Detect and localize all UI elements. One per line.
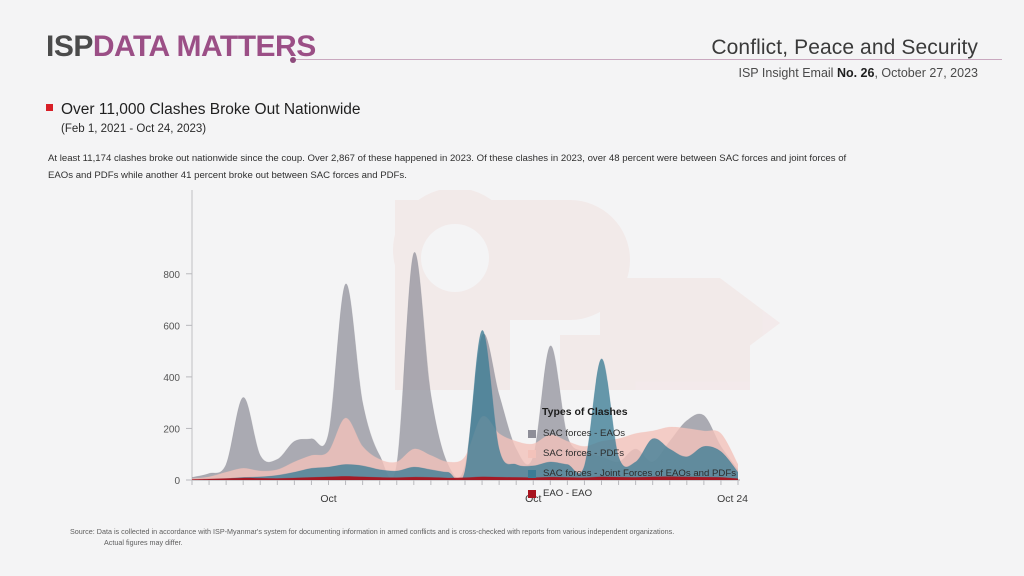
legend-title: Types of Clashes bbox=[542, 406, 736, 418]
header-issue-number: No. 26 bbox=[837, 66, 875, 80]
x-axis-tick-label: 2023 bbox=[725, 509, 749, 510]
source-line-1: Source: Data is collected in accordance … bbox=[70, 527, 674, 536]
summary-paragraph: At least 11,174 clashes broke out nation… bbox=[48, 150, 848, 184]
legend-item[interactable]: EAO - EAO bbox=[528, 488, 736, 499]
page-title: Over 11,000 Clashes Broke Out Nationwide bbox=[46, 101, 361, 119]
legend-item-label: SAC forces - EAOs bbox=[543, 428, 625, 439]
brand-isp-text: ISP bbox=[46, 30, 93, 63]
red-square-bullet-icon bbox=[46, 104, 53, 111]
header-subtitle-post: , October 27, 2023 bbox=[874, 66, 978, 80]
brand-dot-icon bbox=[290, 57, 296, 63]
chart-container: 0200400600800 Oct2021Oct2022Oct 242023 T… bbox=[0, 190, 1024, 510]
page-title-text: Over 11,000 Clashes Broke Out Nationwide bbox=[61, 101, 361, 118]
legend-item-label: EAO - EAO bbox=[543, 488, 592, 499]
source-line-2: Actual figures may differ. bbox=[70, 537, 860, 548]
legend-swatch-icon bbox=[528, 470, 536, 478]
page-subtitle: (Feb 1, 2021 - Oct 24, 2023) bbox=[61, 123, 206, 135]
legend-swatch-icon bbox=[528, 450, 536, 458]
x-axis-tick-label: 2022 bbox=[522, 509, 546, 510]
legend-swatch-icon bbox=[528, 430, 536, 438]
area-chart-svg: 0200400600800 Oct2021Oct2022Oct 242023 bbox=[0, 190, 1024, 510]
y-axis-tick-label: 600 bbox=[163, 321, 180, 332]
brand-datamatters-text: DATA MATTERS bbox=[93, 30, 316, 63]
header-subtitle: ISP Insight Email No. 26, October 27, 20… bbox=[739, 66, 979, 80]
legend-item-label: SAC forces - PDFs bbox=[543, 448, 624, 459]
header-title: Conflict, Peace and Security bbox=[711, 36, 978, 60]
page-header: ISPDATA MATTERS Conflict, Peace and Secu… bbox=[0, 0, 1024, 92]
y-axis-tick-label: 800 bbox=[163, 270, 180, 281]
legend-item-label: SAC forces - Joint Forces of EAOs and PD… bbox=[543, 468, 736, 479]
y-axis-tick-label: 400 bbox=[163, 373, 180, 384]
y-axis-tick-label: 200 bbox=[163, 424, 180, 435]
header-subtitle-pre: ISP Insight Email bbox=[739, 66, 837, 80]
chart-y-axis-ticks: 0200400600800 bbox=[163, 270, 192, 487]
source-note: Source: Data is collected in accordance … bbox=[70, 526, 860, 548]
legend-swatch-icon bbox=[528, 490, 536, 498]
legend-item[interactable]: SAC forces - PDFs bbox=[528, 448, 736, 459]
brand-logo: ISPDATA MATTERS bbox=[46, 32, 316, 62]
chart-legend: Types of Clashes SAC forces - EAOsSAC fo… bbox=[528, 406, 736, 508]
x-axis-tick-label: Oct bbox=[320, 493, 336, 505]
legend-item[interactable]: SAC forces - Joint Forces of EAOs and PD… bbox=[528, 468, 736, 479]
x-axis-tick-label: 2021 bbox=[317, 509, 341, 510]
isp-watermark bbox=[393, 190, 780, 390]
y-axis-tick-label: 0 bbox=[174, 476, 180, 487]
legend-item[interactable]: SAC forces - EAOs bbox=[528, 428, 736, 439]
